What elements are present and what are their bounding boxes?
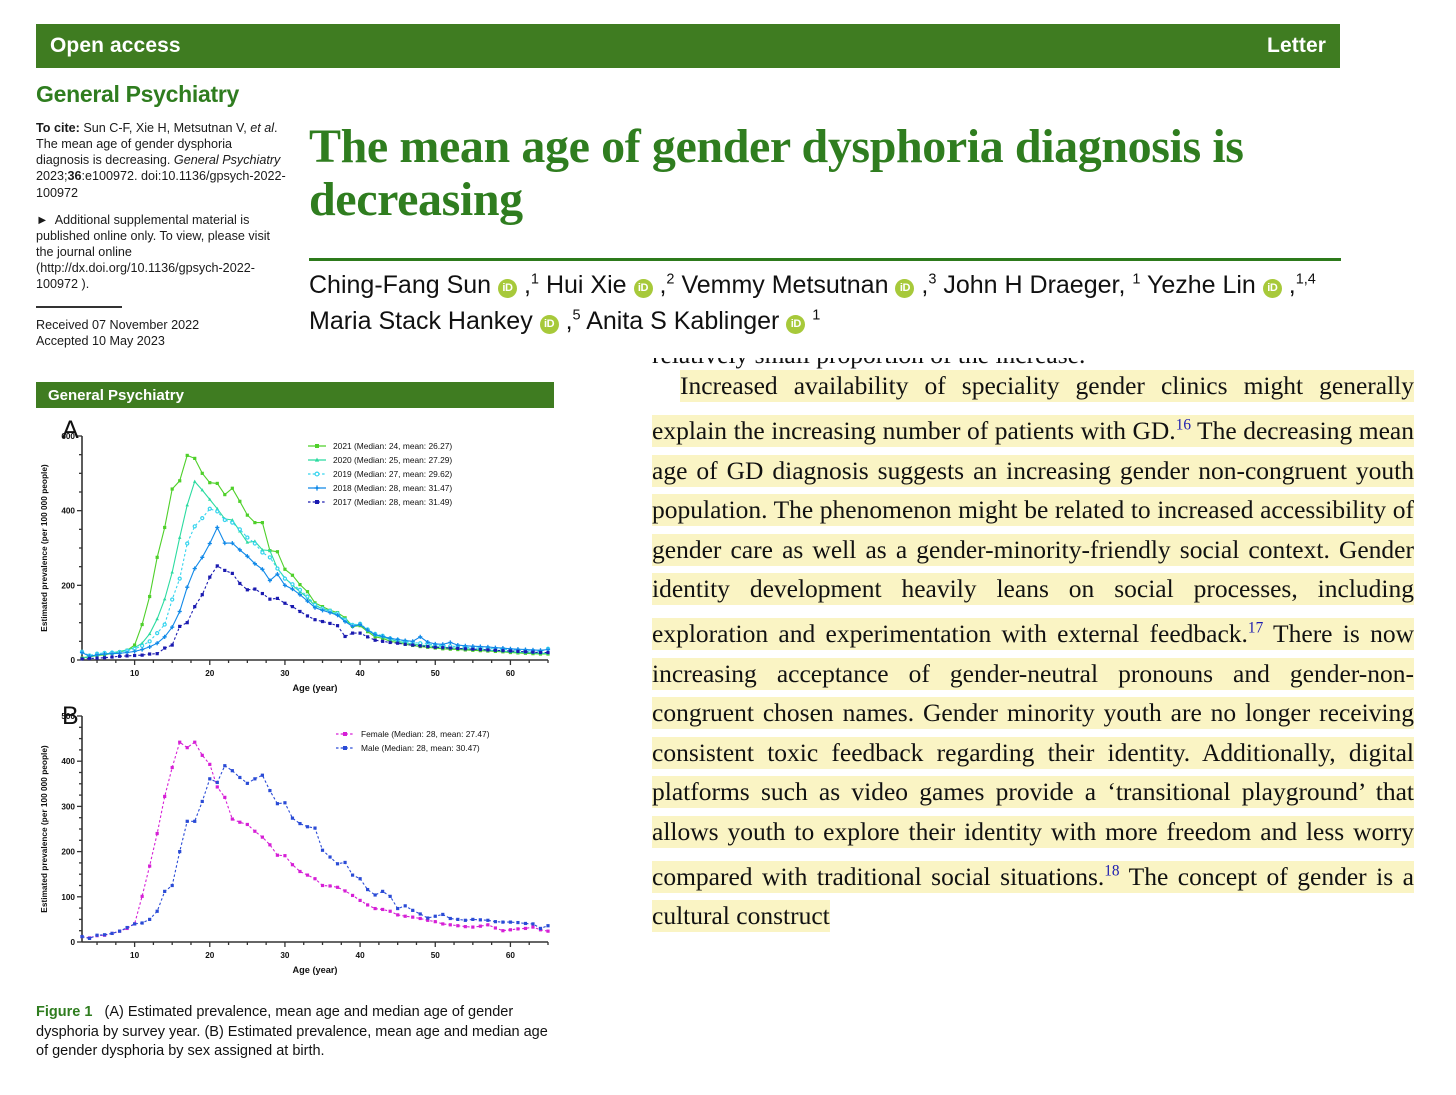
- legend-label: 2020 (Median: 25, mean: 27.29): [333, 455, 452, 465]
- author-affiliation-marker: 1: [812, 307, 820, 323]
- y-tick-label: 0: [70, 656, 75, 665]
- orcid-icon[interactable]: iD: [498, 279, 517, 298]
- figure-banner-label: General Psychiatry: [48, 387, 184, 404]
- legend-label: Male (Median: 28, mean: 30.47): [361, 743, 480, 753]
- y-tick-label: 400: [61, 757, 75, 766]
- figure-panel: A 0200400600102030405060Age (year)Estima…: [36, 414, 556, 1004]
- x-tick-label: 50: [431, 951, 441, 960]
- author-affiliation-marker: 1: [1132, 272, 1140, 288]
- orcid-icon[interactable]: iD: [634, 279, 653, 298]
- author-name: Hui Xie: [546, 271, 634, 299]
- left-meta-column: General Psychiatry To cite: Sun C-F, Xie…: [36, 82, 286, 360]
- x-tick-label: 60: [506, 951, 516, 960]
- to-cite-year: 2023;: [36, 169, 68, 183]
- x-tick-label: 10: [130, 951, 140, 960]
- figure-journal-banner: General Psychiatry: [36, 382, 554, 408]
- bullet-arrow-icon: ►: [36, 213, 48, 227]
- x-tick-label: 10: [130, 669, 140, 678]
- author-name: Vemmy Metsutnan: [681, 271, 895, 299]
- x-axis-title: Age (year): [293, 965, 338, 975]
- article-type-label: Letter: [1267, 34, 1326, 58]
- to-cite-authors: Sun C-F, Xie H, Metsutnan V,: [80, 121, 250, 135]
- orcid-icon[interactable]: iD: [1263, 279, 1282, 298]
- author-affiliation-marker: 1,4: [1296, 272, 1316, 288]
- y-tick-label: 0: [70, 938, 75, 947]
- citation-block: To cite: Sun C-F, Xie H, Metsutnan V, et…: [36, 120, 286, 349]
- author-name: John H Draeger,: [943, 271, 1132, 299]
- y-axis-title: Estimated prevalence (per 100 000 people…: [39, 464, 49, 632]
- to-cite-journal: General Psychiatry: [174, 153, 280, 167]
- legend-label: 2017 (Median: 28, mean: 31.49): [333, 497, 452, 507]
- meta-divider: [36, 306, 122, 308]
- author-name: Maria Stack Hankey: [309, 307, 540, 335]
- figure-number: Figure 1: [36, 1004, 92, 1020]
- x-tick-label: 40: [356, 669, 366, 678]
- author-separator: ,: [1282, 271, 1296, 299]
- author-entry: Maria Stack Hankey iD ,5: [309, 307, 581, 335]
- legend-entry: Female (Median: 28, mean: 27.47): [336, 729, 490, 739]
- figure-caption-text: (A) Estimated prevalence, mean age and m…: [36, 1004, 548, 1059]
- y-tick-label: 200: [61, 848, 75, 857]
- author-name: Yezhe Lin: [1147, 271, 1263, 299]
- legend-label: 2021 (Median: 24, mean: 26.27): [333, 441, 452, 451]
- legend-label: 2019 (Median: 27, mean: 29.62): [333, 469, 452, 479]
- author-entry: Vemmy Metsutnan iD ,3: [681, 271, 936, 299]
- chart-panel-b: 0100200300400500102030405060Age (year)Es…: [36, 694, 556, 976]
- legend-entry: 2020 (Median: 25, mean: 27.29): [308, 455, 452, 465]
- orcid-icon[interactable]: iD: [540, 315, 559, 334]
- received-date: Received 07 November 2022: [36, 317, 286, 333]
- article-body-column: Increased availability of speciality gen…: [652, 366, 1414, 1078]
- author-separator: ,: [559, 307, 573, 335]
- x-tick-label: 30: [280, 951, 290, 960]
- author-separator: ,: [914, 271, 928, 299]
- y-tick-label: 400: [61, 507, 75, 516]
- open-access-banner: Open access Letter: [36, 24, 1340, 68]
- to-cite-volume: 36: [68, 169, 82, 183]
- x-tick-label: 40: [356, 951, 366, 960]
- x-tick-label: 60: [506, 669, 516, 678]
- panel-b-letter: B: [62, 702, 79, 731]
- author-entry: Yezhe Lin iD ,1,4: [1147, 271, 1316, 299]
- x-tick-label: 20: [205, 669, 215, 678]
- orcid-icon[interactable]: iD: [786, 315, 805, 334]
- legend-label: Female (Median: 28, mean: 27.47): [361, 729, 490, 739]
- legend-entry: Male (Median: 28, mean: 30.47): [336, 743, 480, 753]
- author-entry: Hui Xie iD ,2: [546, 271, 675, 299]
- x-tick-label: 30: [280, 669, 290, 678]
- legend-label: 2018 (Median: 28, mean: 31.47): [333, 483, 452, 493]
- title-divider: [309, 258, 1341, 261]
- legend-entry: 2019 (Median: 27, mean: 29.62): [308, 469, 452, 479]
- to-cite-label: To cite:: [36, 121, 80, 135]
- chart-series: [80, 764, 549, 940]
- to-cite-etal: et al: [250, 121, 274, 135]
- author-name: Ching-Fang Sun: [309, 271, 498, 299]
- legend-entry: 2018 (Median: 28, mean: 31.47): [308, 483, 452, 493]
- author-separator: ,: [517, 271, 531, 299]
- to-cite-paragraph: To cite: Sun C-F, Xie H, Metsutnan V, et…: [36, 120, 286, 201]
- author-entry: John H Draeger, 1: [943, 271, 1140, 299]
- author-separator: ,: [653, 271, 667, 299]
- accepted-date: Accepted 10 May 2023: [36, 333, 286, 349]
- chart-panel-a: 0200400600102030405060Age (year)Estimate…: [36, 414, 556, 694]
- y-tick-label: 100: [61, 893, 75, 902]
- page-title: The mean age of gender dysphoria diagnos…: [309, 120, 1319, 227]
- author-affiliation-marker: 5: [573, 307, 581, 323]
- x-axis-title: Age (year): [293, 683, 338, 693]
- y-axis-title: Estimated prevalence (per 100 000 people…: [39, 745, 49, 913]
- chart-series: [80, 454, 549, 660]
- open-access-label: Open access: [50, 34, 181, 58]
- legend-entry: 2021 (Median: 24, mean: 26.27): [308, 441, 452, 451]
- x-tick-label: 50: [431, 669, 441, 678]
- chart-series: [80, 741, 549, 940]
- y-tick-label: 200: [61, 581, 75, 590]
- supplemental-text: Additional supplemental material is publ…: [36, 213, 270, 291]
- x-tick-label: 20: [205, 951, 215, 960]
- journal-wordmark: General Psychiatry: [36, 82, 286, 106]
- author-entry: Anita S Kablinger iD 1: [586, 307, 820, 335]
- author-affiliation-marker: 3: [928, 272, 936, 288]
- author-affiliation-marker: 2: [666, 272, 674, 288]
- author-name: Anita S Kablinger: [586, 307, 786, 335]
- panel-a-letter: A: [62, 416, 79, 445]
- body-highlighted-text: Increased availability of speciality gen…: [652, 370, 1414, 932]
- supplemental-paragraph: ► Additional supplemental material is pu…: [36, 212, 286, 293]
- author-entry: Ching-Fang Sun iD ,1: [309, 271, 539, 299]
- author-affiliation-marker: 1: [531, 272, 539, 288]
- author-list: Ching-Fang Sun iD ,1 Hui Xie iD ,2 Vemmy…: [309, 268, 1329, 339]
- figure-caption: Figure 1 (A) Estimated prevalence, mean …: [36, 1003, 556, 1062]
- body-paragraph: Increased availability of speciality gen…: [652, 366, 1414, 936]
- orcid-icon[interactable]: iD: [895, 279, 914, 298]
- legend-entry: 2017 (Median: 28, mean: 31.49): [308, 497, 452, 507]
- chart-series: [80, 480, 550, 659]
- y-tick-label: 300: [61, 802, 75, 811]
